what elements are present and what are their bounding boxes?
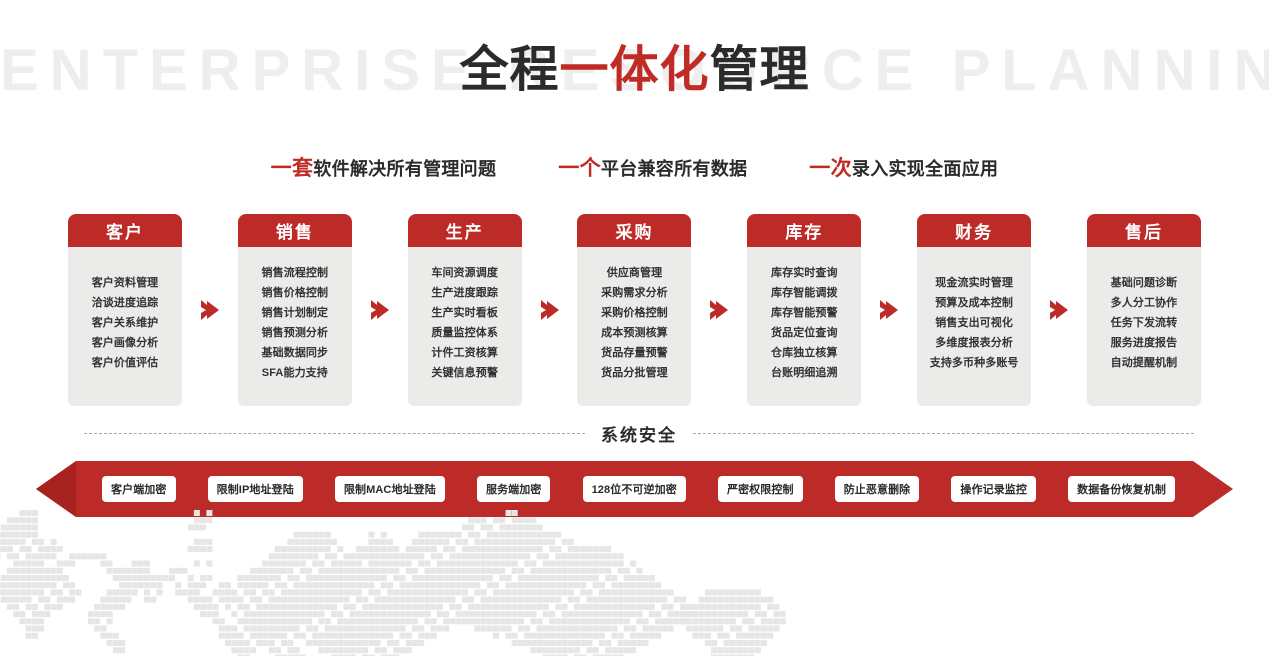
flow-arrow-connector	[182, 214, 238, 406]
chevron-right-icon	[540, 299, 560, 321]
subtitle-rest: 软件解决所有管理问题	[313, 159, 496, 179]
security-chip[interactable]: 操作记录监控	[951, 476, 1036, 502]
module-feature-item: SFA能力支持	[262, 365, 328, 382]
subtitle-lead: 一套	[271, 157, 314, 180]
module-feature-item: 预算及成本控制	[935, 295, 1013, 312]
module-card-title: 销售	[276, 218, 314, 243]
module-card-title: 客户	[106, 218, 144, 243]
module-feature-item: 计件工资核算	[431, 345, 498, 362]
module-feature-item: 关键信息预警	[431, 365, 498, 382]
module-feature-item: 多维度报表分析	[935, 335, 1013, 352]
flow-arrow-connector	[1031, 214, 1087, 406]
module-feature-item: 成本预测核算	[601, 325, 668, 342]
module-feature-item: 货品存量预警	[601, 345, 668, 362]
module-feature-item: 货品定位查询	[771, 325, 838, 342]
security-chip[interactable]: 严密权限控制	[718, 476, 803, 502]
module-feature-item: 供应商管理	[607, 265, 663, 282]
module-feature-item: 销售支出可视化	[935, 315, 1013, 332]
module-feature-item: 任务下发流转	[1111, 315, 1178, 332]
chevron-right-icon	[200, 299, 220, 321]
page-title: 全程一体化管理	[0, 36, 1269, 104]
module-card-body: 供应商管理采购需求分析采购价格控制成本预测核算货品存量预警货品分批管理	[577, 247, 691, 406]
module-card-title: 售后	[1125, 218, 1163, 243]
subtitle-rest: 平台兼容所有数据	[601, 159, 747, 179]
divider-line-left	[84, 433, 585, 434]
chevron-right-icon	[370, 299, 390, 321]
module-feature-item: 库存智能预警	[771, 305, 838, 322]
module-feature-item: 基础数据同步	[262, 345, 329, 362]
security-chip[interactable]: 服务端加密	[477, 476, 551, 502]
module-card-header: 库存	[747, 214, 861, 247]
security-banner: 客户端加密限制IP地址登陆限制MAC地址登陆服务端加密128位不可逆加密严密权限…	[36, 461, 1233, 517]
subtitle-item: 一次录入实现全面应用	[809, 152, 998, 182]
subtitle-item: 一套软件解决所有管理问题	[271, 152, 497, 182]
module-feature-item: 生产实时看板	[431, 305, 498, 322]
module-feature-item: 仓库独立核算	[771, 345, 838, 362]
security-chip[interactable]: 防止恶意删除	[835, 476, 920, 502]
subtitle-rest: 录入实现全面应用	[852, 159, 998, 179]
chevron-right-icon	[709, 299, 729, 321]
module-feature-item: 洽谈进度追踪	[92, 295, 159, 312]
title-segment-1: 全程	[459, 43, 559, 97]
security-chip[interactable]: 数据备份恢复机制	[1068, 476, 1175, 502]
title-segment-accent: 一体化	[559, 43, 709, 97]
module-card[interactable]: 生产车间资源调度生产进度跟踪生产实时看板质量监控体系计件工资核算关键信息预警	[408, 214, 522, 406]
module-card-header: 客户	[68, 214, 182, 247]
module-card-header: 售后	[1087, 214, 1201, 247]
module-feature-item: 自动提醒机制	[1111, 355, 1178, 372]
divider-line-right	[693, 433, 1194, 434]
module-feature-item: 库存智能调拨	[771, 285, 838, 302]
module-feature-item: 生产进度跟踪	[431, 285, 498, 302]
module-card-body: 基础问题诊断多人分工协作任务下发流转服务进度报告自动提醒机制	[1087, 247, 1201, 406]
module-feature-item: 销售流程控制	[262, 265, 329, 282]
module-feature-item: 支持多币种多账号	[930, 355, 1019, 372]
subtitle-lead: 一次	[809, 157, 852, 180]
module-card[interactable]: 采购供应商管理采购需求分析采购价格控制成本预测核算货品存量预警货品分批管理	[577, 214, 691, 406]
subtitle-item: 一个平台兼容所有数据	[558, 152, 747, 182]
module-feature-item: 销售价格控制	[262, 285, 329, 302]
module-feature-item: 客户资料管理	[92, 275, 159, 292]
subtitle-lead: 一个	[558, 157, 601, 180]
module-feature-item: 服务进度报告	[1111, 335, 1178, 352]
module-card-header: 采购	[577, 214, 691, 247]
flow-arrow-connector	[691, 214, 747, 406]
security-chip[interactable]: 限制IP地址登陆	[208, 476, 303, 502]
module-feature-item: 销售计划制定	[262, 305, 329, 322]
module-card-title: 生产	[446, 218, 484, 243]
world-map-dot-texture	[0, 506, 1269, 656]
module-card[interactable]: 售后基础问题诊断多人分工协作任务下发流转服务进度报告自动提醒机制	[1087, 214, 1201, 406]
module-feature-item: 采购需求分析	[601, 285, 668, 302]
module-card-body: 库存实时查询库存智能调拨库存智能预警货品定位查询仓库独立核算台账明细追溯	[747, 247, 861, 406]
module-card-title: 财务	[955, 218, 993, 243]
title-segment-2: 管理	[710, 43, 810, 97]
security-chip[interactable]: 128位不可逆加密	[583, 476, 686, 502]
module-feature-item: 现金流实时管理	[935, 275, 1013, 292]
module-card-body: 现金流实时管理预算及成本控制销售支出可视化多维度报表分析支持多币种多账号	[917, 247, 1031, 406]
module-feature-item: 销售预测分析	[262, 325, 329, 342]
security-chip-list: 客户端加密限制IP地址登陆限制MAC地址登陆服务端加密128位不可逆加密严密权限…	[102, 461, 1175, 517]
flow-arrow-connector	[861, 214, 917, 406]
module-feature-item: 采购价格控制	[601, 305, 668, 322]
module-feature-item: 车间资源调度	[431, 265, 498, 282]
module-feature-item: 库存实时查询	[771, 265, 838, 282]
chevron-right-icon	[1049, 299, 1069, 321]
module-feature-item: 质量监控体系	[431, 325, 498, 342]
subtitle-row: 一套软件解决所有管理问题 一个平台兼容所有数据 一次录入实现全面应用	[0, 152, 1269, 182]
module-feature-item: 客户画像分析	[92, 335, 159, 352]
module-card[interactable]: 销售销售流程控制销售价格控制销售计划制定销售预测分析基础数据同步SFA能力支持	[238, 214, 352, 406]
security-chip[interactable]: 客户端加密	[102, 476, 176, 502]
module-card-header: 销售	[238, 214, 352, 247]
page-header: ENTERPRISE RESOURCE PLANNING 全程一体化管理	[0, 0, 1269, 135]
module-feature-item: 基础问题诊断	[1111, 275, 1178, 292]
module-card[interactable]: 客户客户资料管理洽谈进度追踪客户关系维护客户画像分析客户价值评估	[68, 214, 182, 406]
module-feature-item: 客户价值评估	[92, 355, 159, 372]
module-card-body: 销售流程控制销售价格控制销售计划制定销售预测分析基础数据同步SFA能力支持	[238, 247, 352, 406]
module-card-header: 财务	[917, 214, 1031, 247]
module-card-title: 采购	[615, 218, 653, 243]
module-card-title: 库存	[785, 218, 823, 243]
module-card[interactable]: 库存库存实时查询库存智能调拨库存智能预警货品定位查询仓库独立核算台账明细追溯	[747, 214, 861, 406]
module-feature-item: 多人分工协作	[1111, 295, 1178, 312]
divider-label: 系统安全	[601, 421, 677, 446]
module-feature-item: 货品分批管理	[601, 365, 668, 382]
module-card-body: 客户资料管理洽谈进度追踪客户关系维护客户画像分析客户价值评估	[68, 247, 182, 406]
module-feature-item: 台账明细追溯	[771, 365, 838, 382]
module-card-header: 生产	[408, 214, 522, 247]
infographic-page: ENTERPRISE RESOURCE PLANNING 全程一体化管理 一套软…	[0, 0, 1269, 656]
module-card-body: 车间资源调度生产进度跟踪生产实时看板质量监控体系计件工资核算关键信息预警	[408, 247, 522, 406]
module-feature-item: 客户关系维护	[92, 315, 159, 332]
flow-arrow-connector	[522, 214, 578, 406]
flow-arrow-connector	[352, 214, 408, 406]
module-card-row: 客户客户资料管理洽谈进度追踪客户关系维护客户画像分析客户价值评估销售销售流程控制…	[68, 214, 1201, 406]
security-chip[interactable]: 限制MAC地址登陆	[335, 476, 445, 502]
chevron-right-icon	[879, 299, 899, 321]
module-card[interactable]: 财务现金流实时管理预算及成本控制销售支出可视化多维度报表分析支持多币种多账号	[917, 214, 1031, 406]
section-divider: 系统安全	[84, 420, 1194, 446]
